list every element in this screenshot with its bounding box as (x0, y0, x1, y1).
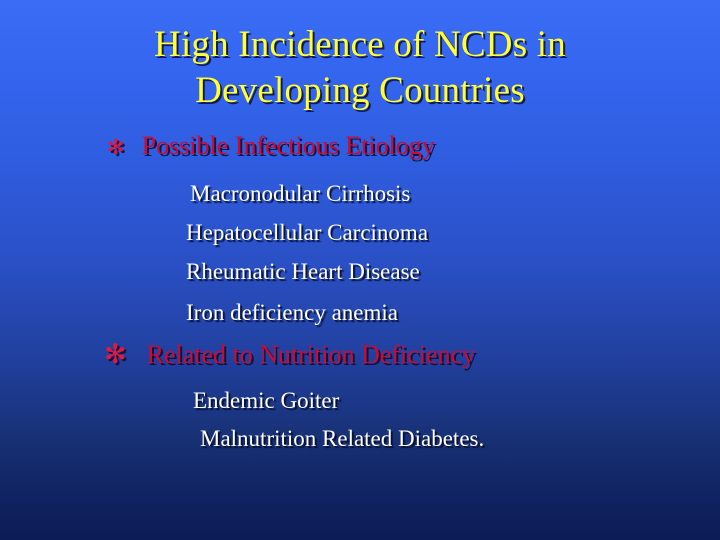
list-item-malnutrition-related-diabetes: Malnutrition Related Diabetes. (200, 425, 484, 452)
list-item-macronodular-cirrhosis: Macronodular Cirrhosis (190, 180, 410, 207)
slide-title-line-2: Developing Countries (60, 68, 660, 114)
list-item-rheumatic-heart-disease: Rheumatic Heart Disease (186, 258, 420, 285)
bullet-heading-label: Possible Infectious Etiology (142, 131, 435, 161)
list-item-iron-deficiency-anemia: Iron deficiency anemia (186, 299, 398, 326)
flower-asterisk-bullet-icon: ✻ (107, 137, 125, 158)
list-item-hepatocellular-carcinoma: Hepatocellular Carcinoma (186, 219, 428, 246)
bullet-heading-possible-infectious-etiology: ✻ Possible Infectious Etiology (107, 131, 435, 161)
bullet-heading-related-to-nutrition-deficiency: ✻ Related to Nutrition Deficiency (104, 340, 475, 370)
list-item-endemic-goiter: Endemic Goiter (193, 387, 339, 414)
slide-title: High Incidence of NCDs in Developing Cou… (60, 22, 660, 114)
slide-title-line-1: High Incidence of NCDs in (60, 22, 660, 68)
bullet-heading-label: Related to Nutrition Deficiency (147, 340, 476, 370)
flower-asterisk-bullet-icon: ✻ (104, 341, 127, 368)
presentation-slide: High Incidence of NCDs in Developing Cou… (0, 0, 720, 540)
